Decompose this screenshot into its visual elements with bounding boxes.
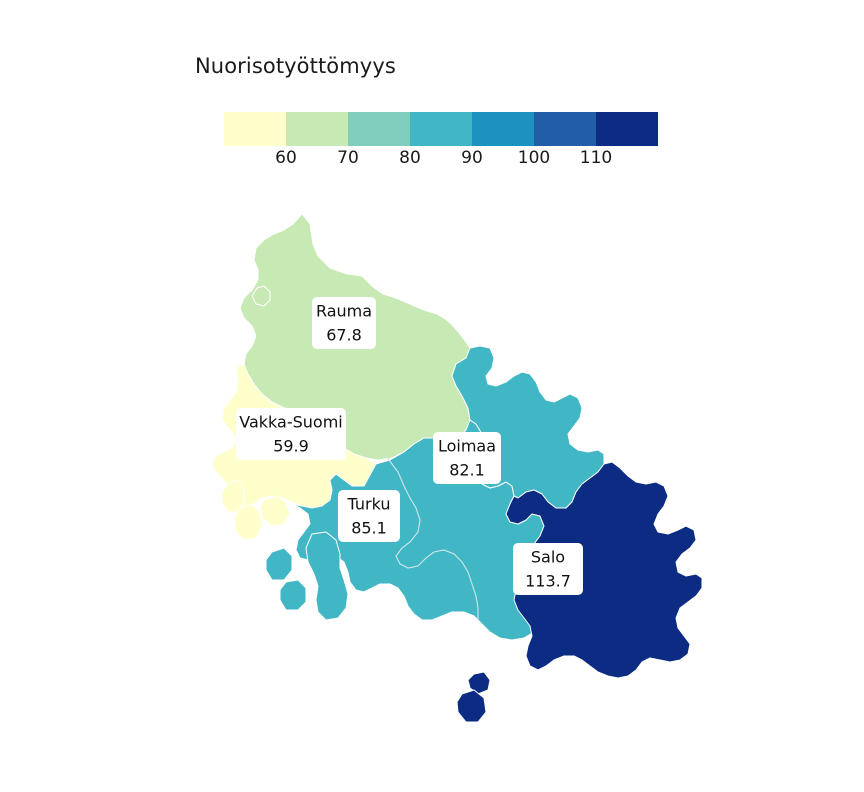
colorbar-segment-4 [472,112,534,146]
map-label-vakka-suomi-value: 59.9 [273,437,309,456]
colorbar-gradient [224,112,658,146]
region-vakka-suomi-island-1[interactable] [222,480,244,512]
map-label-salo: Salo 113.7 [513,543,583,595]
colorbar-segment-6 [596,112,658,146]
map-label-salo-value: 113.7 [525,572,571,591]
region-turku-island-1[interactable] [266,548,292,580]
map-svg: Rauma 67.8 Vakka-Suomi 59.9 Loimaa 82.1 … [0,186,864,746]
colorbar-tick-60: 60 [275,148,297,168]
map-label-turku-name: Turku [347,495,391,514]
colorbar-segment-3 [410,112,472,146]
colorbar-segment-0 [224,112,286,146]
colorbar: 60708090100110 [224,112,658,174]
colorbar-tick-70: 70 [337,148,359,168]
colorbar-tick-labels: 60708090100110 [224,148,658,174]
map-label-turku: Turku 85.1 [338,490,400,542]
colorbar-tick-80: 80 [399,148,421,168]
region-vakka-suomi-island-3[interactable] [260,496,290,526]
page-title: Nuorisotyöttömyys [195,54,396,78]
colorbar-tick-110: 110 [580,148,612,168]
map-label-rauma-name: Rauma [316,302,372,321]
map-label-vakka-suomi-name: Vakka-Suomi [239,413,342,432]
region-turku-island-2[interactable] [280,580,306,610]
map-label-loimaa-name: Loimaa [438,437,496,456]
map-label-turku-value: 85.1 [351,519,387,538]
map-label-rauma-value: 67.8 [326,326,362,345]
colorbar-tick-90: 90 [461,148,483,168]
colorbar-segment-5 [534,112,596,146]
map-label-loimaa-value: 82.1 [449,461,485,480]
colorbar-segment-1 [286,112,348,146]
choropleth-figure: Nuorisotyöttömyys 60708090100110 [0,0,864,792]
colorbar-segment-2 [348,112,410,146]
map-label-loimaa: Loimaa 82.1 [433,432,501,484]
map-canvas: Rauma 67.8 Vakka-Suomi 59.9 Loimaa 82.1 … [0,186,864,746]
region-salo-island-2[interactable] [457,690,486,722]
colorbar-tick-100: 100 [518,148,550,168]
map-label-rauma: Rauma 67.8 [312,297,376,349]
map-label-vakka-suomi: Vakka-Suomi 59.9 [236,408,346,460]
map-label-salo-name: Salo [531,548,565,567]
